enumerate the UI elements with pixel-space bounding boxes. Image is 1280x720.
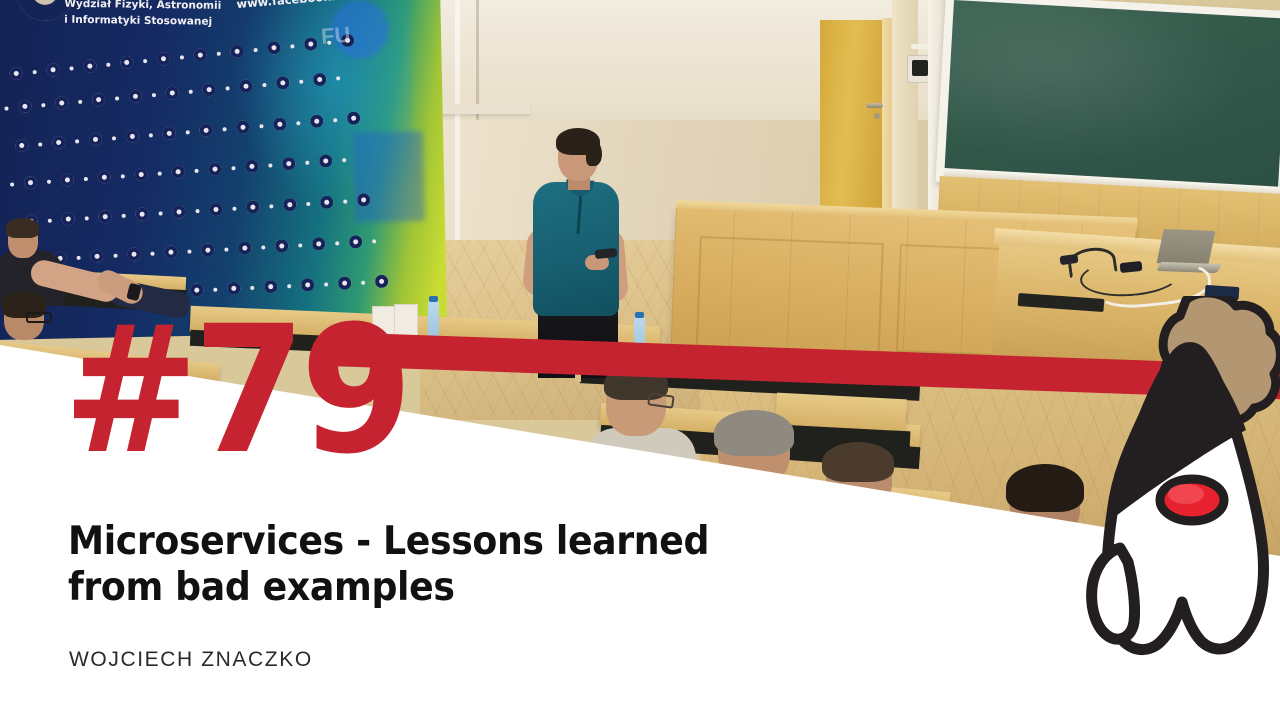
door-lock bbox=[874, 113, 880, 119]
speaker-name: WOJCIECH ZNACZKO bbox=[69, 648, 313, 672]
episode-number: #79 bbox=[63, 303, 407, 479]
water-bottle-cap-stage bbox=[429, 296, 438, 302]
java-duke-icon bbox=[1086, 296, 1280, 720]
wall-seam-secondary bbox=[476, 0, 479, 120]
audience-3-hair bbox=[822, 442, 894, 482]
water-bottle-stage bbox=[428, 300, 439, 338]
talk-title-line-2: from bad examples bbox=[68, 565, 840, 611]
audience-left-hair bbox=[6, 218, 39, 238]
wall-ledge bbox=[430, 104, 530, 114]
chalk-smudges bbox=[944, 0, 1280, 190]
laptop-screen bbox=[1157, 229, 1216, 265]
audience-4-hair bbox=[1006, 464, 1084, 512]
duke-arm-left bbox=[1092, 548, 1135, 639]
talk-title-line-1: Microservices - Lessons learned bbox=[68, 519, 840, 565]
talk-title: Microservices - Lessons learned from bad… bbox=[68, 519, 840, 611]
lectern-panel-left bbox=[696, 236, 884, 355]
banner-org-text: W TORUNIU Wydział Fizyki, Astronomii i I… bbox=[64, 0, 221, 29]
wall-trim bbox=[911, 44, 929, 49]
door-frame-edge bbox=[882, 18, 892, 216]
wall-switch bbox=[912, 60, 928, 76]
water-bottle-cap-speaker bbox=[635, 312, 644, 318]
chalkboard bbox=[944, 0, 1280, 190]
audience-2-hair bbox=[714, 410, 794, 456]
door-handle bbox=[866, 103, 883, 108]
duke-nose-highlight bbox=[1168, 484, 1204, 504]
video-thumbnail: FU W TORUNIU Wydział Fizyki, Astronomii … bbox=[0, 0, 1280, 720]
banner-watermark: FU bbox=[320, 22, 351, 50]
speaker-hair-side bbox=[586, 140, 602, 166]
audience-left-front-glasses bbox=[26, 312, 52, 323]
banner-dept-line2: i Informatyki Stosowanej bbox=[64, 13, 221, 29]
door bbox=[820, 20, 882, 215]
banner-dept-line1: Wydział Fizyki, Astronomii bbox=[64, 0, 221, 13]
